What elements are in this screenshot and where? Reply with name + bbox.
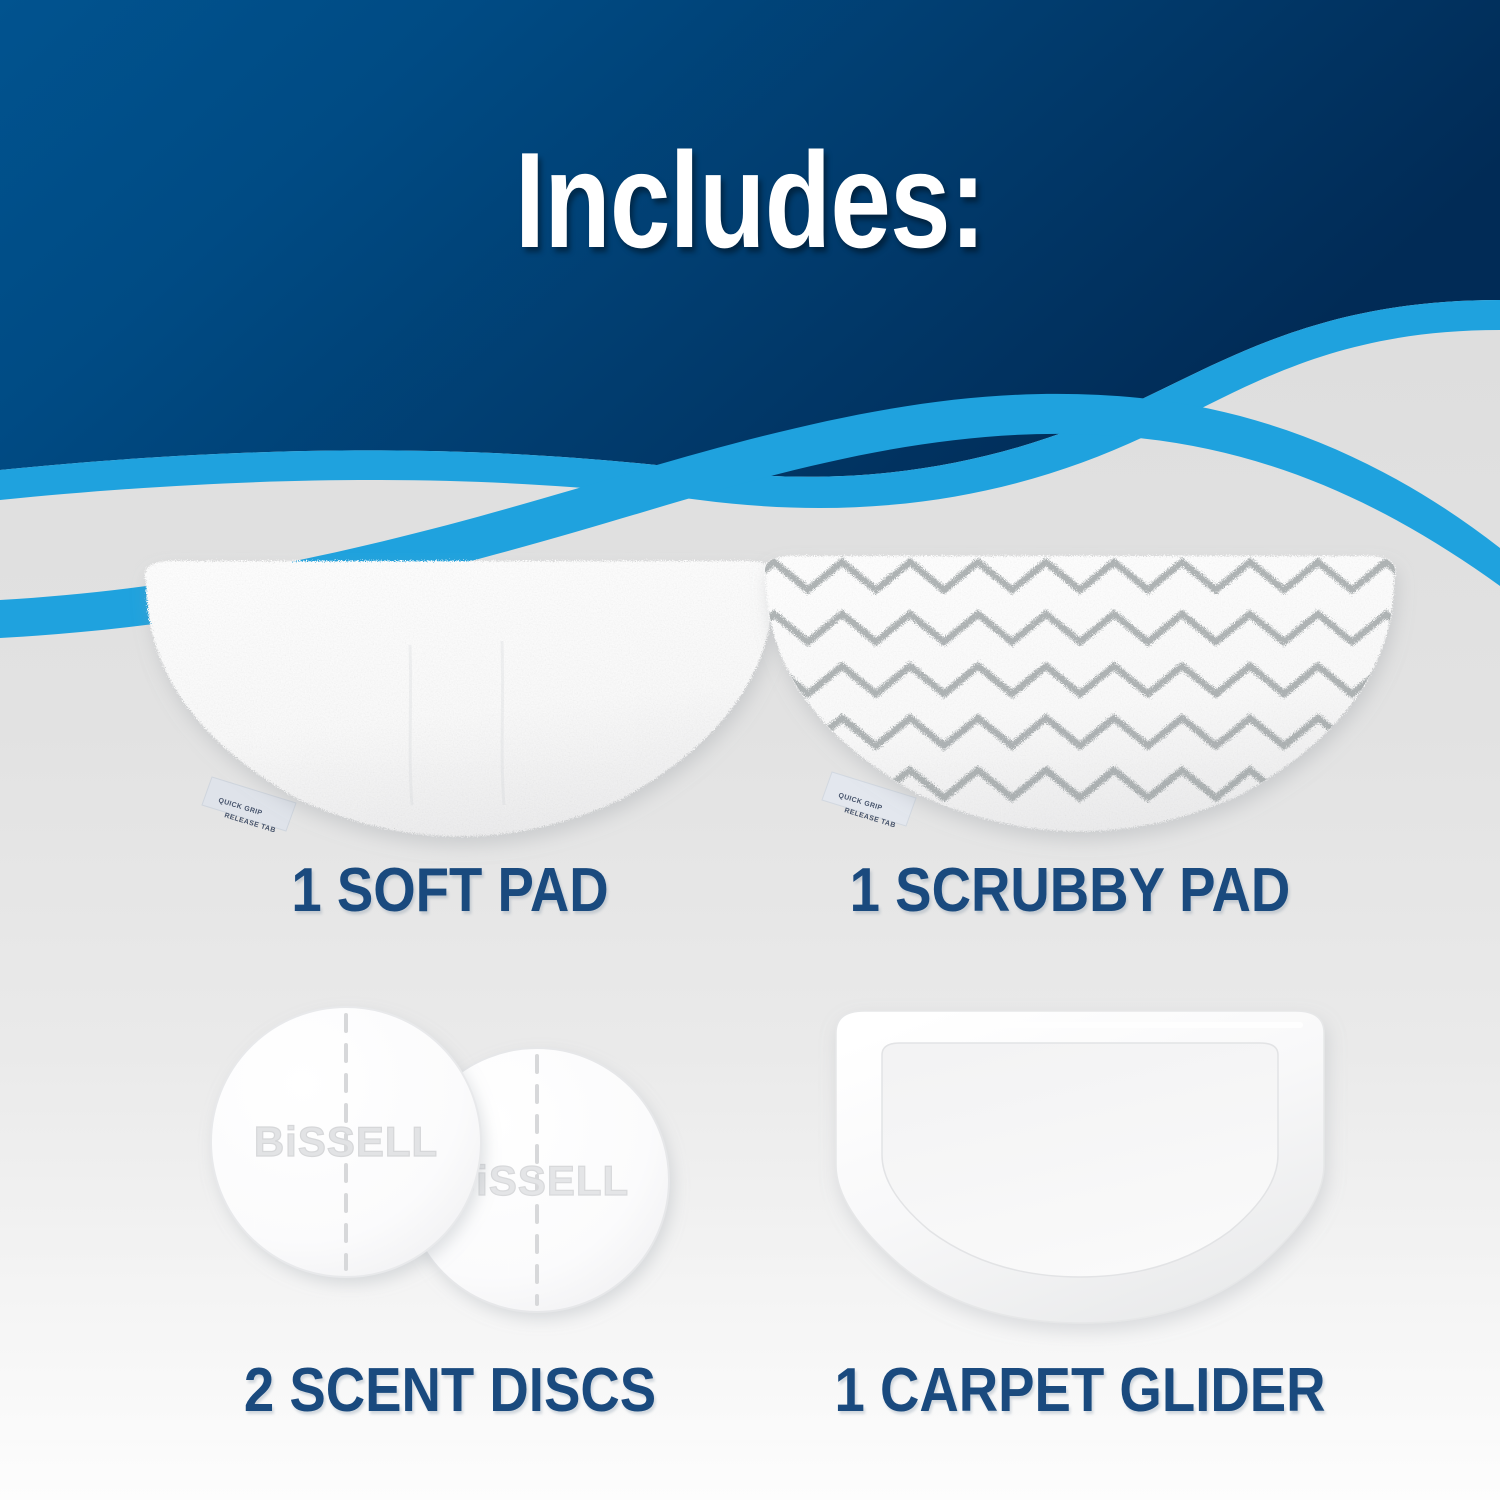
scrubby-mop-pad-icon: QUICK GRIP RELEASE TAB [740,550,1420,850]
infographic-canvas: Includes: [0,0,1500,1500]
soft-mop-pad-icon: QUICK GRIP RELEASE TAB [120,555,800,855]
product-scent-discs: BiSSELL BiSSELL [170,990,730,1320]
scent-disc-icon: BiSSELL BiSSELL [170,990,730,1320]
caption-scrubby-pad: 1 SCRUBBY PAD [762,855,1378,926]
product-scrubby-pad: QUICK GRIP RELEASE TAB [740,550,1420,850]
caption-scent-discs: 2 SCENT DISCS [151,1355,749,1426]
caption-carpet-glider: 1 CARPET GLIDER [763,1355,1397,1426]
product-soft-pad: QUICK GRIP RELEASE TAB [120,555,800,855]
product-carpet-glider [790,995,1370,1325]
scent-disc-front: BiSSELL [211,1007,481,1277]
brand-emboss: BiSSELL [254,1118,438,1165]
caption-soft-pad: 1 SOFT PAD [142,855,758,926]
upper-cyan-wave [0,300,1500,508]
header-wave-banner [0,0,1500,640]
carpet-glider-icon [790,995,1370,1325]
page-title: Includes: [150,132,1350,268]
